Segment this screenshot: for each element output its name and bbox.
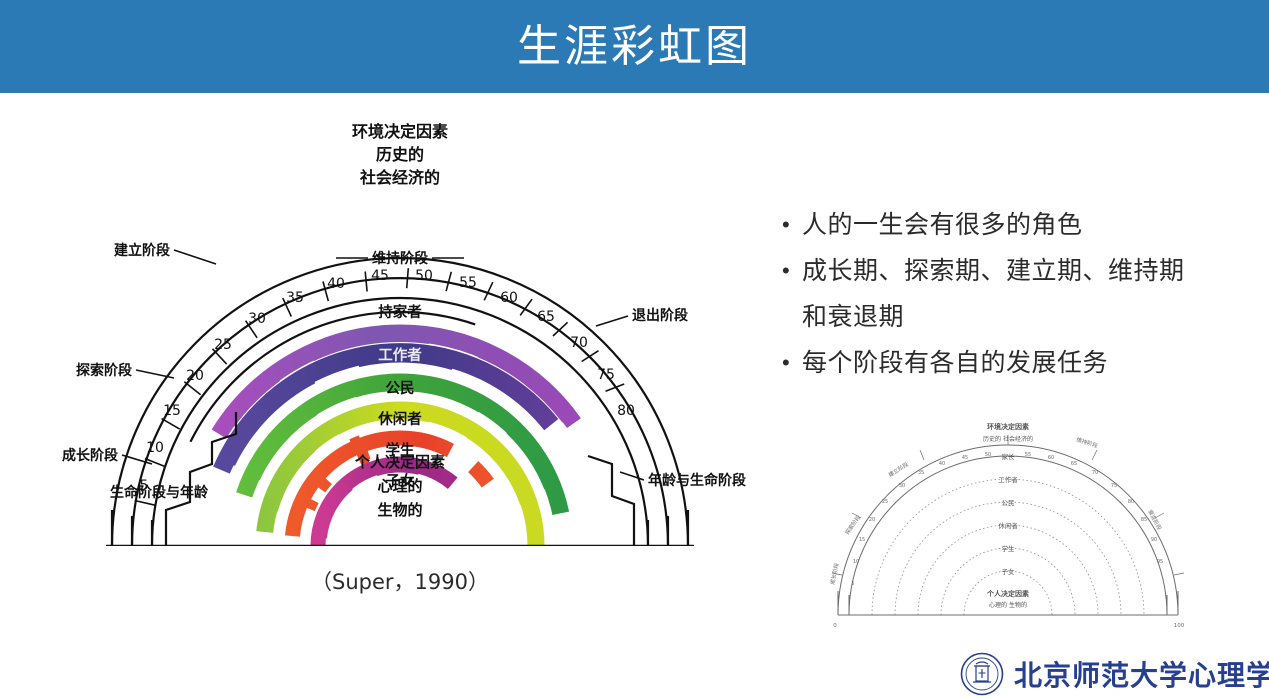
mini-axis-ends: 0 100 (833, 623, 1184, 629)
svg-text:生物的: 生物的 (377, 501, 422, 519)
svg-text:40: 40 (327, 276, 345, 292)
bullet-dot-icon: • (782, 251, 802, 291)
svg-text:学生: 学生 (1002, 544, 1016, 553)
role-label-worker: 工作者 (378, 346, 422, 364)
environment-determinants-block: 环境决定因素 历史的 社会经济的 (352, 122, 448, 187)
svg-text:80: 80 (617, 403, 635, 419)
svg-text:0: 0 (833, 623, 837, 629)
svg-text:55: 55 (459, 275, 477, 291)
list-item: • 成长期、探索期、建立期、维持期 (782, 251, 1252, 291)
svg-text:70: 70 (570, 335, 588, 351)
slide-title-bar: 生涯彩虹图 (0, 0, 1269, 93)
bullet-text: 人的一生会有很多的角色 (802, 205, 1083, 245)
svg-text:家长: 家长 (1002, 452, 1016, 461)
svg-text:子女: 子女 (1002, 567, 1016, 576)
svg-text:100: 100 (1174, 623, 1185, 629)
svg-text:25: 25 (882, 499, 888, 505)
svg-text:环境决定因素: 环境决定因素 (987, 422, 1029, 431)
bullet-dot-icon: • (782, 343, 802, 383)
stage-label-growth: 成长阶段 (62, 447, 118, 464)
svg-text:60: 60 (1048, 455, 1054, 461)
lifespace-right-step (588, 456, 634, 546)
bullet-list: • 人的一生会有很多的角色 • 成长期、探索期、建立期、维持期 和衰退期 • 每… (782, 205, 1252, 389)
svg-text:心理的: 心理的 (377, 477, 422, 495)
mini-personal-determinants: 个人决定因素 心理的 生物的 (986, 589, 1029, 609)
right-stage-labels: 退出阶段 年龄与生命阶段 (632, 307, 746, 489)
role-label-citizen: 公民 (386, 380, 415, 397)
svg-text:85: 85 (1141, 517, 1147, 523)
svg-text:心理的 生物的: 心理的 生物的 (989, 601, 1027, 609)
axis-label-right: 年龄与生命阶段 (648, 472, 746, 489)
role-label-homemaker: 持家者 (378, 303, 422, 321)
svg-text:40: 40 (939, 461, 945, 467)
list-item-continuation: 和衰退期 (782, 297, 1252, 337)
svg-text:60: 60 (500, 290, 518, 306)
bullet-text: 成长期、探索期、建立期、维持期 (802, 251, 1185, 291)
university-logo: 北京师范大学心理学部 (960, 652, 1269, 696)
bullet-text: 每个阶段有各自的发展任务 (802, 343, 1108, 383)
svg-text:50: 50 (415, 268, 433, 284)
svg-text:社会经济的: 社会经济的 (359, 168, 440, 187)
svg-text:35: 35 (286, 290, 304, 306)
svg-text:维持阶段: 维持阶段 (372, 250, 428, 267)
stage-label-maintenance: 维持阶段 (336, 250, 464, 267)
svg-text:55: 55 (1025, 452, 1031, 458)
svg-text:90: 90 (1151, 537, 1157, 543)
svg-text:70: 70 (1092, 470, 1098, 476)
blank-rainbow-template: 环境决定因素 历史的 社会经济的 家长 工作者 公民 (818, 415, 1198, 645)
svg-text:65: 65 (1071, 461, 1077, 467)
svg-text:75: 75 (1111, 483, 1117, 489)
stage-label-exploration: 探索阶段 (76, 362, 132, 379)
svg-text:工作者: 工作者 (998, 475, 1018, 484)
list-item: • 每个阶段有各自的发展任务 (782, 343, 1252, 383)
svg-text:10: 10 (146, 440, 164, 456)
svg-text:休闲者: 休闲者 (998, 521, 1018, 530)
svg-text:75: 75 (597, 367, 615, 383)
list-item: • 人的一生会有很多的角色 (782, 205, 1252, 245)
svg-text:45: 45 (371, 268, 389, 284)
svg-text:个人决定因素: 个人决定因素 (354, 453, 445, 471)
svg-text:建立阶段: 建立阶段 (887, 460, 910, 479)
svg-text:公民: 公民 (1002, 499, 1015, 507)
svg-text:45: 45 (962, 455, 968, 461)
title-underline (0, 93, 1269, 96)
svg-text:个人决定因素: 个人决定因素 (986, 589, 1029, 598)
bullet-dot-icon: • (782, 205, 802, 245)
svg-text:80: 80 (1128, 499, 1134, 505)
svg-text:95: 95 (1157, 559, 1163, 565)
bullet-text: 和衰退期 (802, 297, 904, 337)
svg-text:5: 5 (851, 581, 854, 587)
svg-text:环境决定因素: 环境决定因素 (352, 122, 448, 141)
svg-text:50: 50 (985, 452, 991, 458)
svg-text:30: 30 (248, 311, 266, 327)
svg-text:35: 35 (918, 470, 924, 476)
mini-rainbow-svg: 环境决定因素 历史的 社会经济的 家长 工作者 公民 (818, 415, 1198, 645)
bnu-seal-icon (960, 652, 1004, 696)
svg-text:20: 20 (186, 368, 204, 384)
citation: （Super，1990） (40, 566, 760, 596)
svg-text:维持阶段: 维持阶段 (1075, 435, 1099, 450)
personal-determinants-block: 个人决定因素 心理的 生物的 (354, 453, 445, 519)
svg-text:10: 10 (853, 559, 859, 565)
svg-text:25: 25 (214, 337, 232, 353)
university-name: 北京师范大学心理学部 (1014, 654, 1269, 694)
page-title: 生涯彩虹图 (517, 25, 752, 69)
stage-label-disengagement: 退出阶段 (632, 307, 688, 324)
mini-stage-labels: 成长阶段 探索阶段 建立阶段 维持阶段 衰退阶段 (828, 435, 1164, 585)
role-label-leisurite: 休闲者 (377, 410, 422, 428)
career-rainbow-diagram: 5 10 15 20 25 30 35 40 45 50 55 60 65 70… (40, 112, 760, 562)
svg-text:15: 15 (859, 537, 865, 543)
stage-label-establishment: 建立阶段 (114, 242, 170, 259)
svg-text:历史的: 历史的 (376, 145, 424, 164)
mini-role-labels: 家长 工作者 公民 休闲者 学生 子女 (998, 452, 1018, 576)
svg-text:15: 15 (163, 403, 181, 419)
axis-label-left: 生命阶段与年龄 (110, 484, 209, 501)
svg-text:30: 30 (899, 483, 905, 489)
rainbow-svg: 5 10 15 20 25 30 35 40 45 50 55 60 65 70… (40, 112, 760, 562)
svg-text:20: 20 (869, 517, 875, 523)
svg-text:65: 65 (537, 309, 555, 325)
